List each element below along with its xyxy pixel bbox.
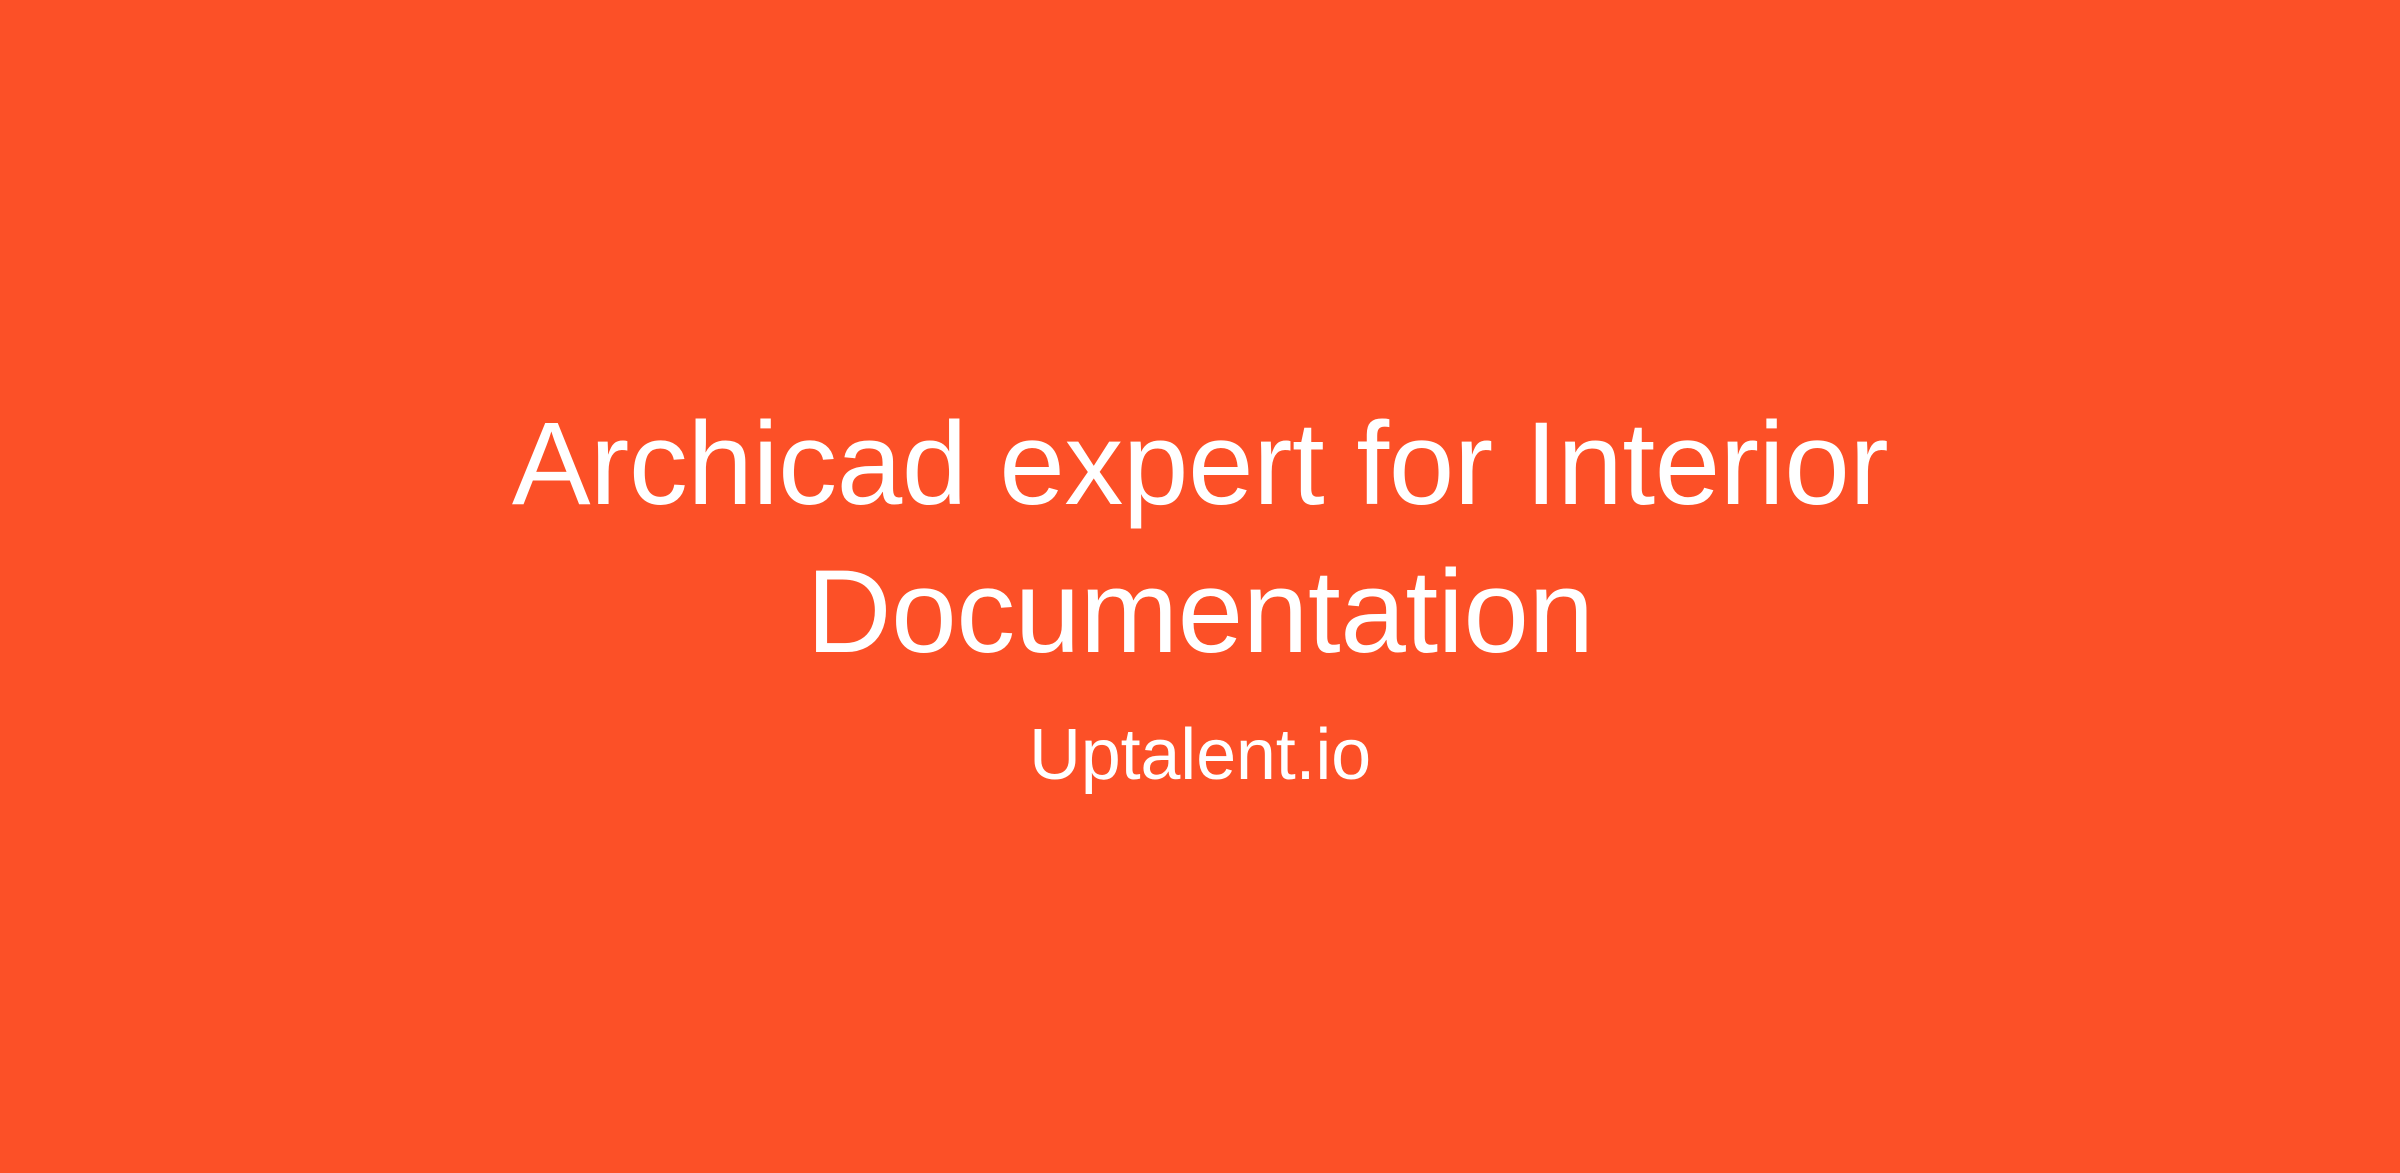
hero-banner: Archicad expert for Interior Documentati… (0, 0, 2400, 1173)
page-title: Archicad expert for Interior Documentati… (370, 390, 2030, 686)
hero-text-block: Archicad expert for Interior Documentati… (0, 390, 2400, 798)
brand-subtitle: Uptalent.io (1029, 712, 1371, 798)
